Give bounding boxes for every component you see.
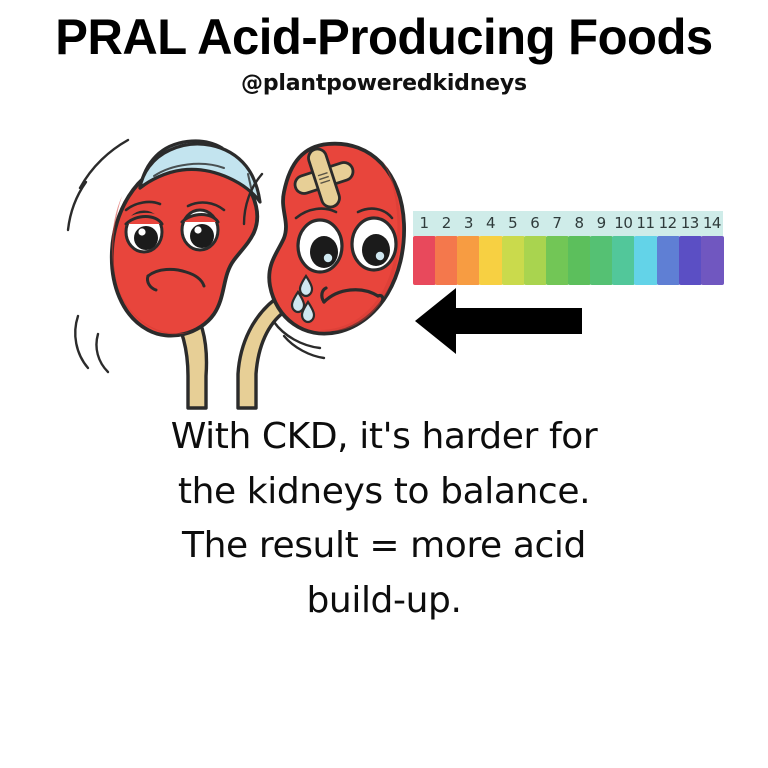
right-kidney-ureter — [238, 300, 284, 408]
body-line-4: build-up. — [84, 574, 684, 629]
body-line-3: The result = more acid — [84, 519, 684, 574]
body-line-2: the kidneys to balance. — [84, 465, 684, 520]
poster-canvas: PRAL Acid-Producing Foods @plantpoweredk… — [0, 0, 768, 768]
ph-bar-4 — [479, 236, 502, 285]
ph-number-8: 8 — [568, 211, 590, 236]
ph-number-13: 13 — [679, 211, 701, 236]
left-pointing-arrow — [412, 286, 584, 356]
ph-number-11: 11 — [634, 211, 656, 236]
ph-number-2: 2 — [435, 211, 457, 236]
ph-bar-12 — [657, 236, 680, 285]
ph-bar-3 — [457, 236, 480, 285]
ph-bar-11 — [634, 236, 657, 285]
ph-bar-7 — [546, 236, 569, 285]
ph-scale-numbers: 1 2 3 4 5 6 7 8 9 10 11 12 13 14 — [413, 211, 723, 236]
body-line-1: With CKD, it's harder for — [84, 410, 684, 465]
poster-header: PRAL Acid-Producing Foods @plantpoweredk… — [0, 0, 768, 96]
ph-number-5: 5 — [502, 211, 524, 236]
ph-bar-1 — [413, 236, 436, 285]
two-sad-kidneys-illustration — [62, 126, 412, 411]
ph-number-3: 3 — [457, 211, 479, 236]
ph-number-12: 12 — [657, 211, 679, 236]
ph-bar-2 — [435, 236, 458, 285]
ph-scale-strip: 1 2 3 4 5 6 7 8 9 10 11 12 13 14 — [413, 211, 723, 285]
ph-bar-13 — [679, 236, 702, 285]
ph-number-1: 1 — [413, 211, 435, 236]
ph-bar-6 — [524, 236, 547, 285]
page-title: PRAL Acid-Producing Foods — [8, 0, 761, 65]
ph-number-4: 4 — [479, 211, 501, 236]
ph-number-10: 10 — [612, 211, 634, 236]
ph-bar-10 — [612, 236, 635, 285]
ph-number-6: 6 — [524, 211, 546, 236]
ph-bar-8 — [568, 236, 591, 285]
ph-bar-9 — [590, 236, 613, 285]
body-message: With CKD, it's harder for the kidneys to… — [84, 410, 684, 629]
arrow-shape — [415, 288, 582, 354]
ph-number-14: 14 — [701, 211, 723, 236]
social-handle: @plantpoweredkidneys — [0, 65, 768, 96]
ph-bar-14 — [701, 236, 724, 285]
ph-number-9: 9 — [590, 211, 612, 236]
ph-scale-color-bars — [413, 236, 723, 285]
ph-number-7: 7 — [546, 211, 568, 236]
ph-bar-5 — [502, 236, 525, 285]
